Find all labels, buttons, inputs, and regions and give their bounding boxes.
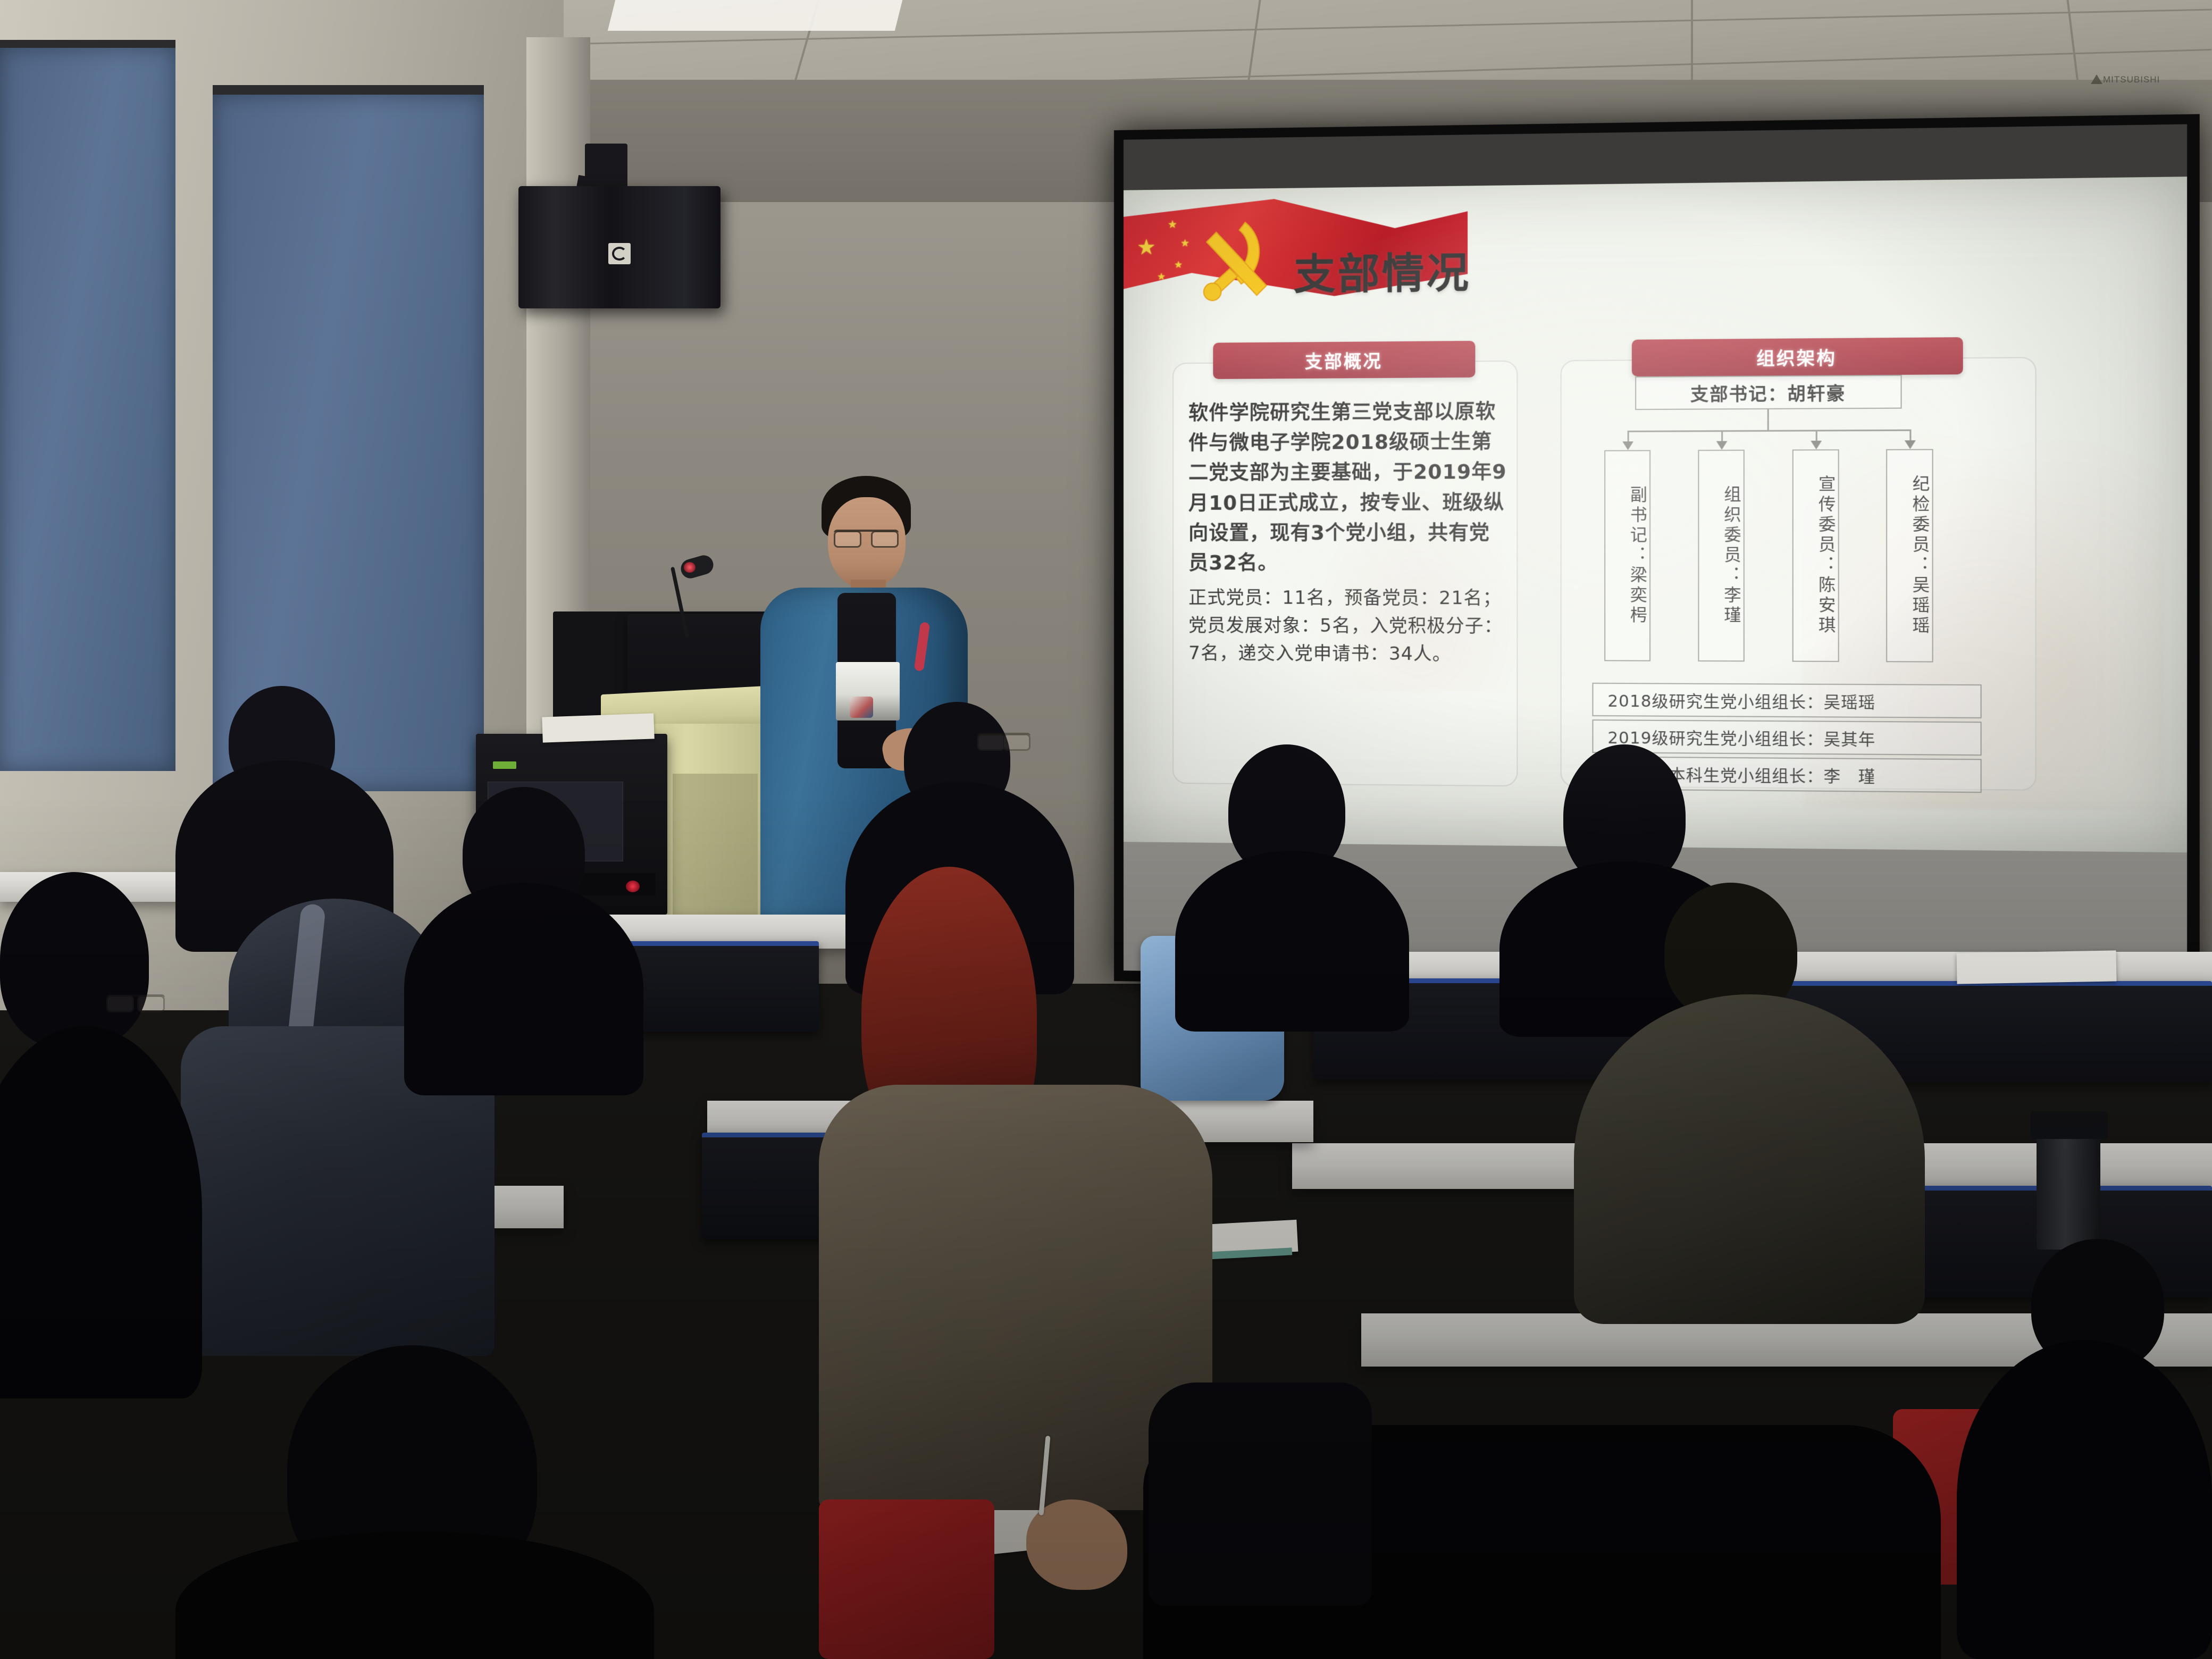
org-group-row: 2018级研究生党小组组长：吴瑶瑶 [1592, 683, 1981, 718]
audience-body [1574, 994, 1925, 1324]
branch-overview-paragraph-1: 软件学院研究生第三党支部以原软件与微电子学院2018级硕士生第二党支部为主要基础… [1188, 397, 1508, 579]
rack-status-indicator [626, 881, 640, 892]
branch-overview-paragraph-2: 正式党员：11名，预备党员：21名；党员发展对象：5名，入党积极分子：7名，递交… [1188, 585, 1508, 669]
rack-power-led [493, 761, 516, 769]
org-chart: 支部书记：胡轩豪 副书记：梁奕枵 组织委员：李瑾 [1570, 371, 2026, 787]
ceiling-light-panel [608, 0, 902, 31]
lectern-front-panel [673, 774, 758, 923]
org-committee-box: 副书记：梁奕枵 [1604, 450, 1650, 661]
audience-red-sleeve [819, 1499, 994, 1659]
brand-triangle-icon [2091, 74, 2102, 84]
org-connector-horizontal [1628, 430, 1910, 432]
slide-title: 支部情况 [1294, 240, 1471, 301]
org-connector-drop-3 [1816, 430, 1817, 442]
classroom-scene: MITSUBISHI ★ ★ ★ ★ [0, 0, 2212, 1659]
papers-on-rack [542, 713, 655, 742]
presenter-jacket-logo-icon [850, 697, 873, 718]
audience-body [175, 1531, 654, 1659]
ccp-hammer-sickle-emblem-icon [1187, 212, 1284, 309]
thermos-bottle [2037, 1133, 2100, 1250]
left-panel-heading: 支部概况 [1305, 347, 1382, 373]
audience-body [1957, 1340, 2212, 1659]
speaker-logo-icon [608, 243, 631, 264]
presenter-glasses-icon [834, 530, 899, 543]
org-connector-drop-4 [1909, 430, 1911, 442]
wall-brand-label: MITSUBISHI [2103, 74, 2160, 85]
right-panel-heading-pill: 组织架构 [1632, 337, 1963, 376]
right-panel-heading: 组织架构 [1756, 343, 1837, 370]
org-arrow-3 [1811, 441, 1822, 449]
org-group-row: 2019级研究生党小组组长：吴其年 [1592, 719, 1981, 756]
org-connector-drop-1 [1628, 431, 1629, 442]
org-committee-box: 纪检委员：吴瑶瑶 [1886, 449, 1933, 662]
org-secretary-box: 支部书记：胡轩豪 [1635, 375, 1901, 410]
org-committee-box: 组织委员：李瑾 [1698, 450, 1744, 662]
left-panel-heading-pill: 支部概况 [1213, 341, 1475, 379]
org-arrow-4 [1905, 440, 1916, 449]
org-arrow-1 [1622, 441, 1633, 450]
microphone-indicator-light [684, 562, 696, 573]
audience-head [0, 872, 149, 1048]
open-book [1957, 950, 2117, 984]
audience-glasses-icon [106, 994, 165, 1008]
org-committee-box: 宣传委员：陈安琪 [1792, 449, 1839, 662]
audience-glasses-icon [977, 733, 1030, 747]
org-connector-vertical-main [1767, 409, 1769, 431]
audience-body [404, 883, 643, 1095]
thermos-lid [2030, 1111, 2108, 1139]
audience-body [0, 1026, 202, 1398]
foreground-bag [1149, 1382, 1372, 1606]
window-blind-2[interactable] [213, 95, 484, 791]
wall-speaker [518, 186, 720, 308]
window-blind-1[interactable] [0, 48, 175, 771]
org-connector-drop-2 [1721, 430, 1723, 442]
audience-body [1175, 851, 1409, 1032]
left-panel-body: 软件学院研究生第三党支部以原软件与微电子学院2018级硕士生第二党支部为主要基础… [1188, 397, 1508, 668]
org-arrow-2 [1716, 441, 1728, 449]
